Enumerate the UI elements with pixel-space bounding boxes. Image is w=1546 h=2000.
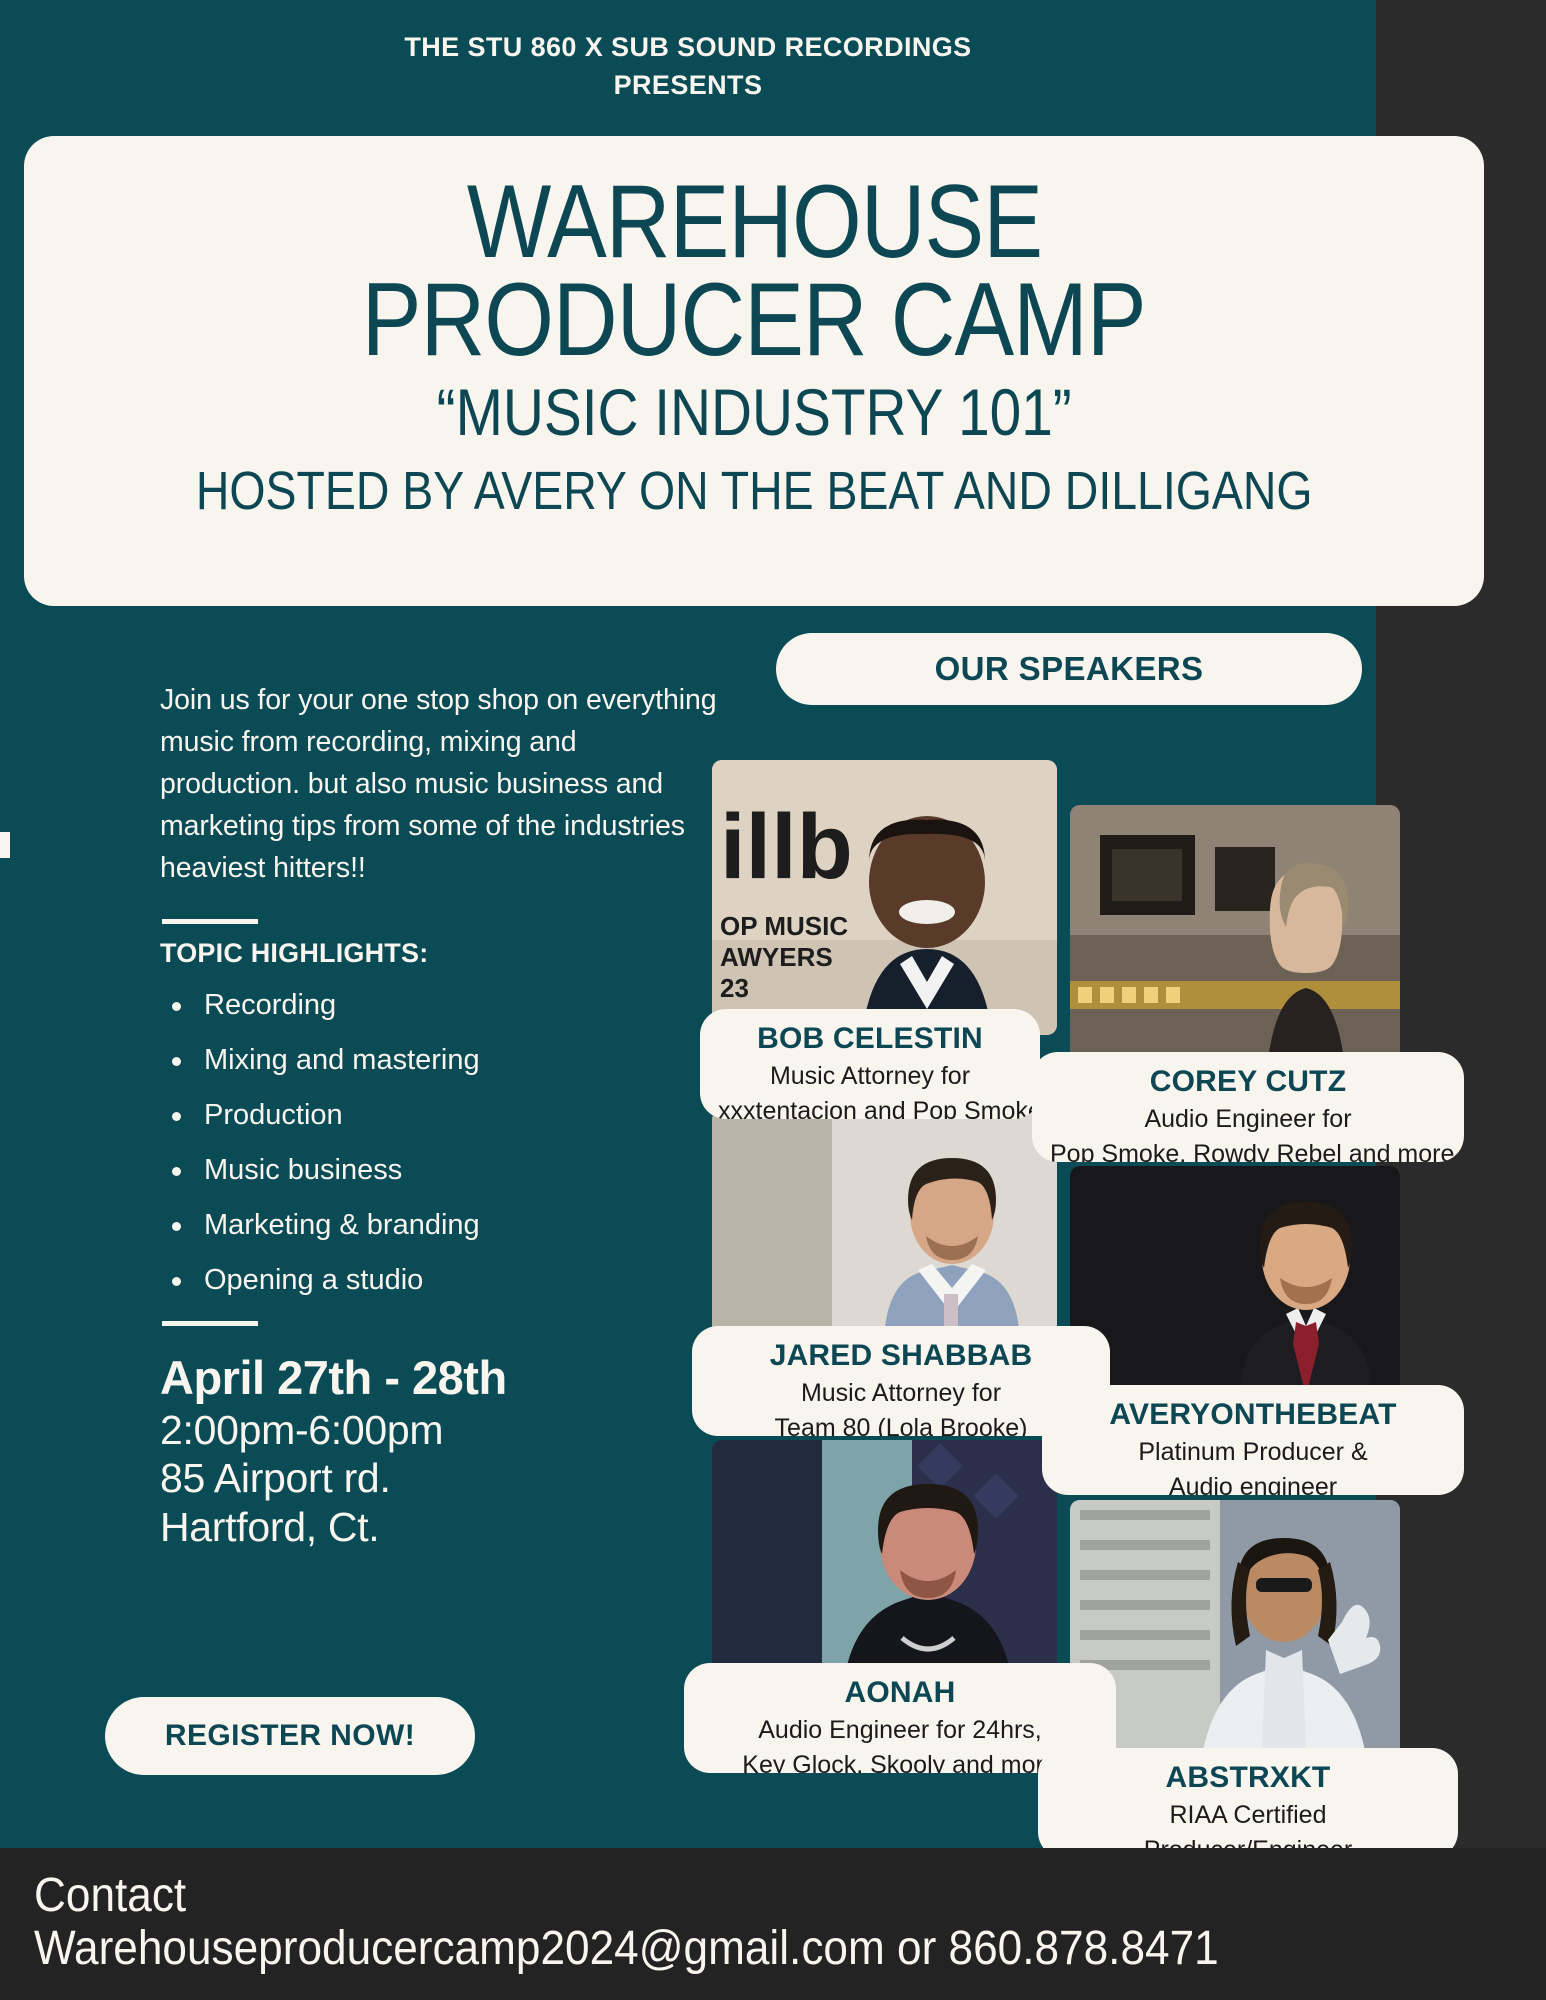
speaker-name: ABSTRXKT — [1056, 1760, 1440, 1796]
poster-canvas: THE STU 860 X SUB SOUND RECORDINGS PRESE… — [0, 0, 1546, 2000]
bullet-dot-icon — [172, 1002, 181, 1011]
contact-label: Contact — [34, 1870, 1425, 1922]
speaker-role-line-1: RIAA Certified — [1056, 1799, 1440, 1831]
topic-highlights-heading: TOPIC HIGHLIGHTS: — [160, 938, 720, 969]
list-item: Recording — [160, 991, 720, 1020]
event-time: 2:00pm-6:00pm — [160, 1406, 720, 1454]
list-item: Music business — [160, 1156, 720, 1185]
title-line-warehouse: WAREHOUSE — [466, 174, 1041, 272]
intro-paragraph: Join us for your one stop shop on everyt… — [160, 680, 720, 889]
svg-text:OP MUSIC: OP MUSIC — [720, 911, 848, 941]
presents-header: THE STU 860 X SUB SOUND RECORDINGS PRESE… — [0, 28, 1376, 105]
list-item: Mixing and mastering — [160, 1046, 720, 1075]
speaker-photo-averyonthebeat — [1070, 1166, 1400, 1416]
left-edge-tick — [0, 832, 10, 858]
topic-label: Mixing and mastering — [204, 1044, 480, 1076]
speaker-card-corey-cutz: COREY CUTZ Audio Engineer for Pop Smoke,… — [1032, 1052, 1464, 1162]
speaker-card-averyonthebeat: AVERYONTHEBEAT Platinum Producer & Audio… — [1042, 1385, 1464, 1495]
left-column: Join us for your one stop shop on everyt… — [160, 680, 720, 1551]
speaker-name: AONAH — [702, 1675, 1098, 1711]
presents-line-2: PRESENTS — [0, 66, 1376, 104]
svg-text:AWYERS: AWYERS — [720, 942, 833, 972]
speaker-role-line-2: xxxtentacion and Pop Smoke — [718, 1095, 1022, 1119]
our-speakers-heading: OUR SPEAKERS — [776, 633, 1362, 705]
speaker-name: JARED SHABBAB — [710, 1338, 1092, 1374]
title-card: WAREHOUSE PRODUCER CAMP “MUSIC INDUSTRY … — [24, 136, 1484, 606]
bullet-dot-icon — [172, 1167, 181, 1176]
register-now-button[interactable]: REGISTER NOW! — [105, 1697, 475, 1775]
divider-top — [162, 919, 258, 924]
speaker-card-abstrxkt: ABSTRXKT RIAA Certified Producer/Enginee… — [1038, 1748, 1458, 1858]
topic-label: Production — [204, 1099, 343, 1131]
topic-label: Music business — [204, 1154, 402, 1186]
speaker-role-line-2: Team 80 (Lola Brooke) — [710, 1412, 1092, 1436]
list-item: Marketing & branding — [160, 1211, 720, 1240]
speaker-card-bob-celestin: BOB CELESTIN Music Attorney for xxxtenta… — [700, 1009, 1040, 1119]
speaker-photo-bob-celestin: illb OP MUSIC AWYERS 23 — [712, 760, 1057, 1035]
svg-text:23: 23 — [720, 973, 749, 1003]
contact-bar: Contact Warehouseproducercamp2024@gmail.… — [0, 1848, 1546, 2000]
title-line-producer-camp: PRODUCER CAMP — [362, 272, 1146, 370]
topic-label: Recording — [204, 989, 336, 1021]
event-address-line-1: 85 Airport rd. — [160, 1454, 720, 1502]
svg-text:illb: illb — [720, 796, 853, 898]
speaker-role-line-1: Platinum Producer & — [1060, 1436, 1446, 1468]
speaker-photo-corey-cutz — [1070, 805, 1400, 1080]
event-date: April 27th - 28th — [160, 1350, 720, 1405]
speaker-name: BOB CELESTIN — [718, 1021, 1022, 1057]
bullet-dot-icon — [172, 1277, 181, 1286]
topic-label: Marketing & branding — [204, 1209, 480, 1241]
contact-details: Warehouseproducercamp2024@gmail.com or 8… — [34, 1922, 1425, 1977]
speaker-role-line-1: Music Attorney for — [718, 1060, 1022, 1092]
topic-highlights-list: Recording Mixing and mastering Productio… — [160, 991, 720, 1295]
speaker-role-line-2: Pop Smoke, Rowdy Rebel and more — [1050, 1138, 1446, 1162]
event-address-line-2: Hartford, Ct. — [160, 1503, 720, 1551]
speaker-name: COREY CUTZ — [1050, 1064, 1446, 1100]
divider-bottom — [162, 1321, 258, 1326]
speaker-role-line-2: Audio engineer — [1060, 1471, 1446, 1495]
bullet-dot-icon — [172, 1057, 181, 1066]
speaker-name: AVERYONTHEBEAT — [1060, 1397, 1446, 1433]
speaker-role-line-1: Audio Engineer for 24hrs, — [702, 1714, 1098, 1746]
title-hosted-by: HOSTED BY AVERY ON THE BEAT AND DILLIGAN… — [196, 459, 1313, 524]
title-subtitle-music-industry: “MUSIC INDUSTRY 101” — [436, 376, 1071, 450]
bullet-dot-icon — [172, 1222, 181, 1231]
list-item: Production — [160, 1101, 720, 1130]
list-item: Opening a studio — [160, 1266, 720, 1295]
bullet-dot-icon — [172, 1112, 181, 1121]
speaker-role-line-1: Audio Engineer for — [1050, 1103, 1446, 1135]
presents-line-1: THE STU 860 X SUB SOUND RECORDINGS — [0, 28, 1376, 66]
speaker-photo-abstrxkt — [1070, 1500, 1400, 1790]
topic-label: Opening a studio — [204, 1264, 423, 1296]
speaker-role-line-1: Music Attorney for — [710, 1377, 1092, 1409]
